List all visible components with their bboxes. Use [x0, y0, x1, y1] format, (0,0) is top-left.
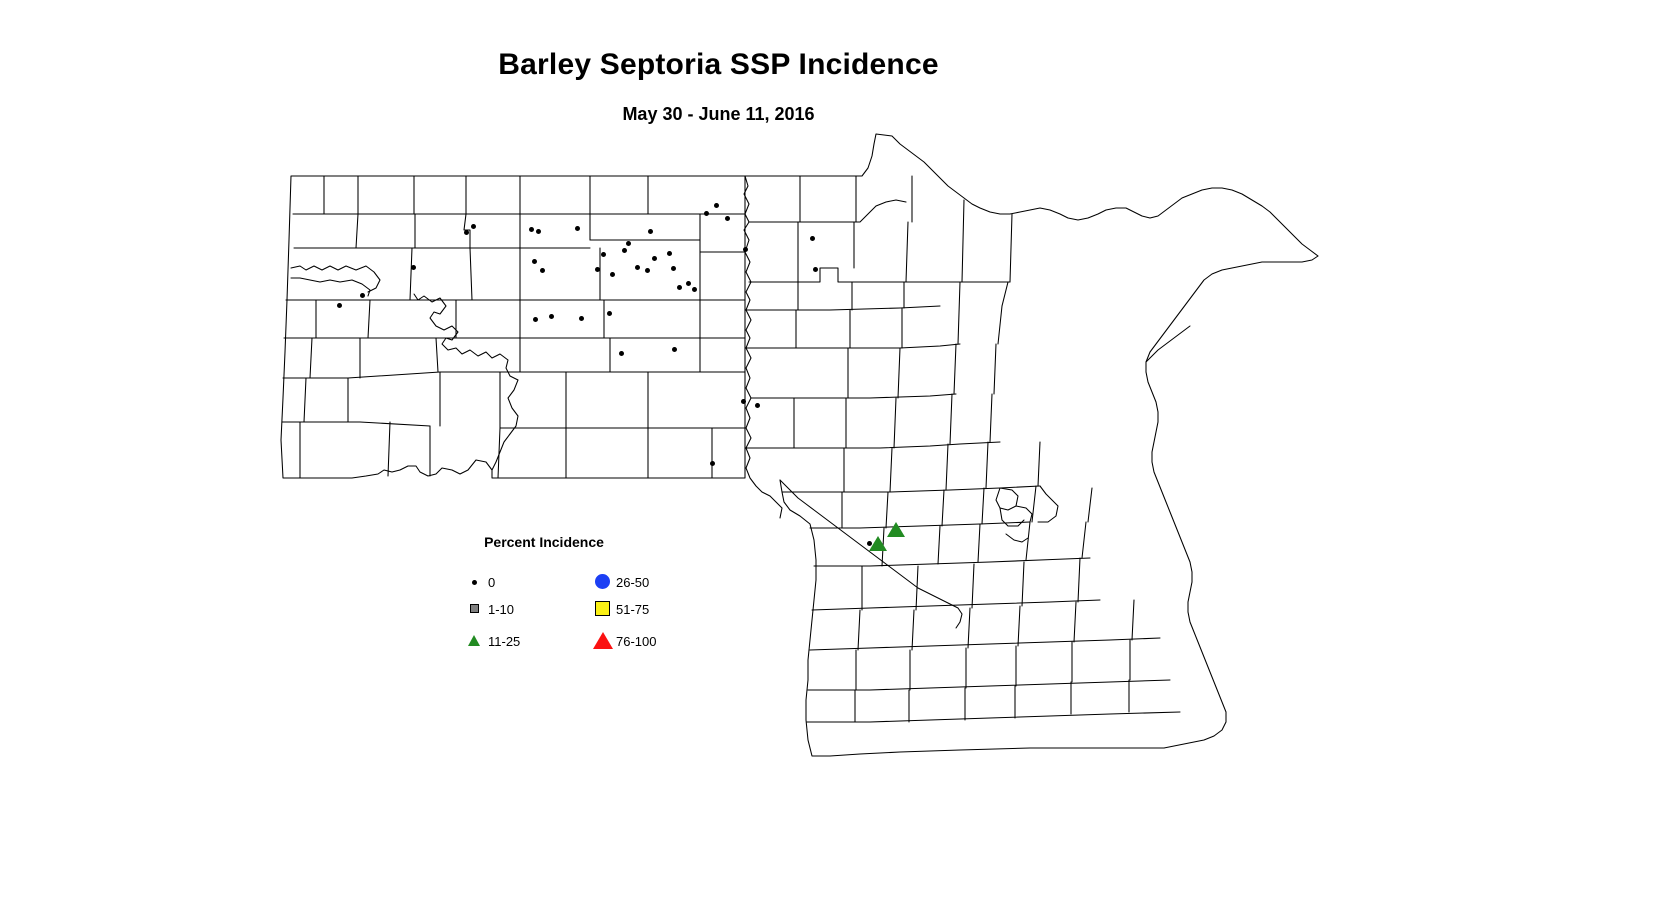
mn-v6a — [1038, 442, 1040, 486]
mn-v3g — [890, 448, 892, 492]
mn-h6 — [746, 442, 1000, 448]
mn-v5c — [998, 306, 1002, 344]
mn-h10 — [812, 600, 1100, 610]
map-marker-dot — [619, 351, 624, 356]
legend-title: Percent Incidence — [466, 534, 622, 550]
map-marker-dot — [741, 399, 746, 404]
nd-col-3f — [436, 338, 438, 372]
map-marker-dot — [464, 230, 469, 235]
map-marker-dot — [607, 311, 612, 316]
mn-sv17 — [1078, 558, 1080, 602]
map-marker-dot — [471, 224, 476, 229]
mn-v4b — [958, 282, 960, 344]
legend-green-triangle-icon — [466, 631, 486, 651]
mn-v4c — [954, 344, 956, 394]
mn-v5g — [982, 488, 984, 524]
mn-east-border — [1146, 256, 1318, 748]
map-marker-dot — [622, 248, 627, 253]
mn-h13 — [807, 712, 1180, 722]
map-marker-dot — [671, 266, 676, 271]
mn-v3b — [906, 222, 908, 282]
mn-v6b — [1032, 486, 1036, 522]
mn-v5e — [990, 394, 992, 442]
mn-h12 — [808, 680, 1170, 690]
mn-v6c — [1026, 522, 1030, 560]
mn-h8 — [810, 522, 1030, 528]
map-marker-dot — [743, 247, 748, 252]
map-marker-triangle — [869, 536, 887, 551]
map-marker-dot — [813, 267, 818, 272]
map-marker-dot — [645, 268, 650, 273]
map-marker-dot — [725, 216, 730, 221]
mn-sv21 — [1132, 600, 1134, 640]
map-marker-dot — [672, 347, 677, 352]
legend-item-label: 1-10 — [488, 601, 514, 619]
map-marker-dot — [704, 211, 709, 216]
legend-item-label: 0 — [488, 574, 495, 592]
nd-col-3c — [410, 248, 412, 300]
nd-tier-6b — [360, 422, 430, 426]
mn-h2 — [749, 268, 1010, 282]
map-marker-dot — [536, 229, 541, 234]
map-marker-dot — [677, 285, 682, 290]
mn-v3f — [894, 398, 896, 448]
legend-item-label: 51-75 — [616, 601, 649, 619]
legend-blue-circle-icon — [594, 572, 614, 592]
mn-v7b — [1082, 522, 1086, 558]
mn-v7a — [1088, 488, 1092, 522]
map-page: Barley Septoria SSP Incidence May 30 - J… — [0, 0, 1673, 900]
mn-v4a — [962, 200, 964, 282]
map-marker-dot — [810, 236, 815, 241]
lake-superior-shore — [1146, 326, 1190, 362]
nd-state-outline — [281, 176, 745, 478]
legend-red-triangle-icon — [594, 631, 614, 651]
mn-h4 — [746, 344, 960, 348]
map-marker-dot — [710, 461, 715, 466]
legend-item-label: 26-50 — [616, 574, 649, 592]
red-river-border — [744, 176, 782, 518]
mn-v4f — [942, 490, 944, 526]
nd-col-2e — [388, 422, 390, 476]
legend-gray-square-icon — [466, 599, 486, 619]
map-marker-dot — [540, 268, 545, 273]
mn-sv9 — [972, 564, 974, 608]
mn-sv10 — [968, 608, 970, 648]
mn-sv2 — [858, 610, 860, 650]
mn-metro-county-1 — [996, 488, 1018, 510]
mn-v5h — [978, 524, 980, 562]
mn-sv18 — [1074, 602, 1076, 642]
map-marker-dot — [529, 227, 534, 232]
mn-v4e — [946, 444, 948, 490]
legend-item-label: 11-25 — [488, 633, 520, 651]
nd-col-2b — [356, 214, 358, 248]
mn-metro-line-4 — [1006, 534, 1028, 542]
mn-h3 — [746, 306, 940, 310]
nd-tier-2d — [590, 240, 700, 252]
legend: Percent Incidence 0 1-10 11-25 26-50 51-… — [466, 534, 696, 662]
nd-tier-5b — [348, 372, 440, 378]
map-marker-triangle — [887, 522, 905, 537]
nd-west-lake-arm-2 — [291, 278, 370, 296]
mn-v4d — [950, 394, 952, 444]
map-marker-dot — [635, 265, 640, 270]
mn-sv14 — [1018, 606, 1020, 646]
map-marker-dot — [575, 226, 580, 231]
map-marker-dot — [714, 203, 719, 208]
map-marker-dot — [692, 287, 697, 292]
map-marker-dot — [533, 317, 538, 322]
county-outline-map — [0, 0, 1673, 900]
mn-sv13 — [1022, 562, 1024, 606]
map-marker-dot — [652, 256, 657, 261]
mn-h1 — [749, 200, 906, 222]
map-marker-dot — [595, 267, 600, 272]
mn-h7 — [782, 486, 1040, 492]
map-canvas — [0, 0, 1673, 900]
map-marker-dot — [337, 303, 342, 308]
nd-col-1c — [310, 338, 312, 378]
map-marker-dot — [648, 229, 653, 234]
map-marker-dot — [360, 293, 365, 298]
legend-item-label: 76-100 — [616, 633, 656, 651]
map-marker-dot — [626, 241, 631, 246]
map-marker-dot — [579, 316, 584, 321]
map-marker-dot — [686, 281, 691, 286]
nd-col-4f — [470, 248, 472, 300]
mn-v5f — [986, 442, 988, 488]
mn-h5 — [751, 394, 956, 398]
mn-v5d — [994, 344, 996, 394]
mn-v5a — [1010, 214, 1012, 282]
mn-h9 — [814, 558, 1090, 566]
map-marker-dot — [755, 403, 760, 408]
state-outlines — [281, 134, 1318, 756]
mn-v4g — [938, 526, 940, 564]
map-marker-dot — [667, 251, 672, 256]
legend-black-dot-icon — [466, 572, 486, 592]
map-marker-dot — [532, 259, 537, 264]
mn-v3e — [898, 348, 900, 398]
mn-metro-line-3 — [1038, 486, 1058, 522]
nd-col-1d — [304, 378, 306, 422]
nd-col-1f — [368, 300, 370, 338]
legend-yellow-square-icon — [594, 599, 614, 619]
map-marker-dot — [549, 314, 554, 319]
mn-v5b — [1002, 282, 1008, 306]
mn-h11 — [810, 638, 1160, 650]
map-marker-dot — [601, 252, 606, 257]
map-marker-dot — [610, 272, 615, 277]
mn-north-border — [745, 134, 1318, 256]
mn-sv6 — [912, 610, 914, 650]
map-marker-dot — [411, 265, 416, 270]
